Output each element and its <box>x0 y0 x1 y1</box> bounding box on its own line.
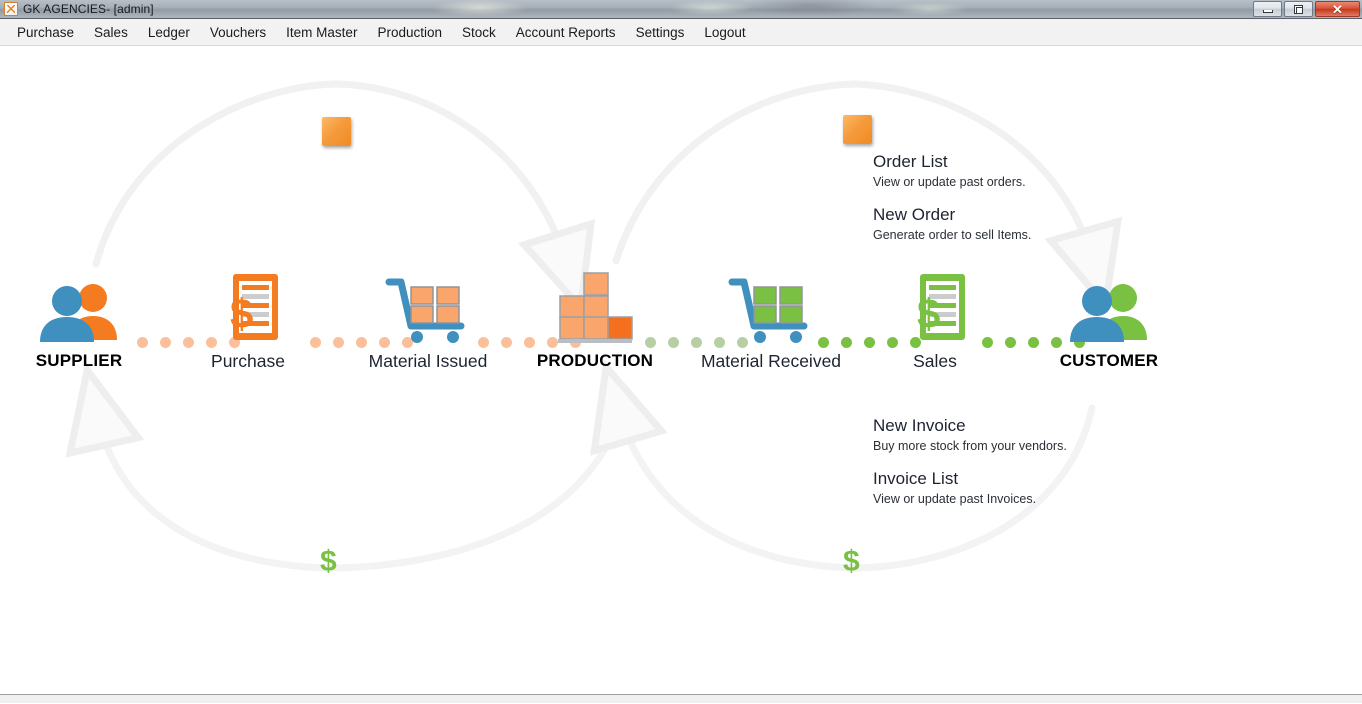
status-bar <box>0 694 1362 703</box>
close-button[interactable]: ✕ <box>1315 1 1360 17</box>
help-title-new-order[interactable]: New Order <box>873 205 1093 225</box>
dollar-icon-bottom-right: $ <box>843 547 860 577</box>
window-controls: ✕ <box>1253 1 1360 17</box>
flow-node-customer[interactable]: CUSTOMER <box>1014 264 1204 371</box>
help-desc-order-list: View or update past orders. <box>873 174 1093 191</box>
application-window: GK AGENCIES- [admin] ✕ Purchase Sales Le… <box>0 0 1362 704</box>
help-panel-purchase: New Invoice Buy more stock from your ven… <box>873 416 1093 522</box>
help-desc-invoice-list: View or update past Invoices. <box>873 491 1093 508</box>
menu-item-item-master[interactable]: Item Master <box>276 21 367 44</box>
menu-item-purchase[interactable]: Purchase <box>7 21 84 44</box>
help-desc-new-invoice: Buy more stock from your vendors. <box>873 438 1093 455</box>
dollar-icon-bottom-left: $ <box>320 547 337 577</box>
menu-item-ledger[interactable]: Ledger <box>138 21 200 44</box>
menu-item-vouchers[interactable]: Vouchers <box>200 21 276 44</box>
flow-node-production[interactable]: PRODUCTION <box>500 264 690 371</box>
menu-item-account-reports[interactable]: Account Reports <box>506 21 626 44</box>
menu-item-production[interactable]: Production <box>367 21 452 44</box>
flow-node-supplier[interactable]: SUPPLIER <box>0 264 174 371</box>
help-panel-sales: Order List View or update past orders. N… <box>873 152 1093 258</box>
purchase-invoice-icon: $ <box>153 264 343 344</box>
restore-button[interactable] <box>1284 1 1313 17</box>
title-bar: GK AGENCIES- [admin] ✕ <box>0 0 1362 19</box>
node-label-supplier: SUPPLIER <box>0 351 174 371</box>
workflow-canvas: $ $ <box>0 46 1362 703</box>
menu-item-sales[interactable]: Sales <box>84 21 138 44</box>
help-title-order-list[interactable]: Order List <box>873 152 1093 172</box>
node-label-sales: Sales <box>840 351 1030 372</box>
node-label-material-issued: Material Issued <box>333 351 523 372</box>
flow-node-purchase[interactable]: $ Purchase <box>153 264 343 372</box>
app-logo-icon <box>4 2 18 16</box>
menu-item-stock[interactable]: Stock <box>452 21 506 44</box>
cart-green-boxes-icon <box>676 264 866 344</box>
window-title: GK AGENCIES- [admin] <box>23 2 154 16</box>
cart-orange-boxes-icon <box>333 264 523 344</box>
flow-node-material-received[interactable]: Material Received <box>676 264 866 372</box>
block-stack-icon <box>500 264 690 344</box>
two-people-green-icon <box>1014 264 1204 344</box>
menu-item-settings[interactable]: Settings <box>626 21 695 44</box>
node-label-production: PRODUCTION <box>500 351 690 371</box>
flow-node-sales[interactable]: $ Sales <box>840 264 1030 372</box>
minimize-icon <box>1263 10 1273 13</box>
two-people-icon <box>0 264 174 344</box>
restore-icon <box>1294 5 1303 14</box>
menu-bar: Purchase Sales Ledger Vouchers Item Mast… <box>0 19 1362 46</box>
help-title-invoice-list[interactable]: Invoice List <box>873 469 1093 489</box>
arc-production-to-supplier <box>98 408 622 568</box>
node-label-purchase: Purchase <box>153 351 343 372</box>
sales-invoice-icon: $ <box>840 264 1030 344</box>
help-desc-new-order: Generate order to sell Items. <box>873 227 1093 244</box>
node-label-customer: CUSTOMER <box>1014 351 1204 371</box>
arc-supplier-to-production <box>96 84 566 264</box>
svg-text:$: $ <box>917 290 940 337</box>
minimize-button[interactable] <box>1253 1 1282 17</box>
svg-text:$: $ <box>230 290 253 337</box>
node-label-material-received: Material Received <box>676 351 866 372</box>
menu-item-logout[interactable]: Logout <box>694 21 755 44</box>
help-title-new-invoice[interactable]: New Invoice <box>873 416 1093 436</box>
orange-box-icon-top-left <box>322 117 351 146</box>
orange-box-icon-top-right <box>843 115 872 144</box>
close-icon: ✕ <box>1332 3 1343 16</box>
flow-node-material-issued[interactable]: Material Issued <box>333 264 523 372</box>
